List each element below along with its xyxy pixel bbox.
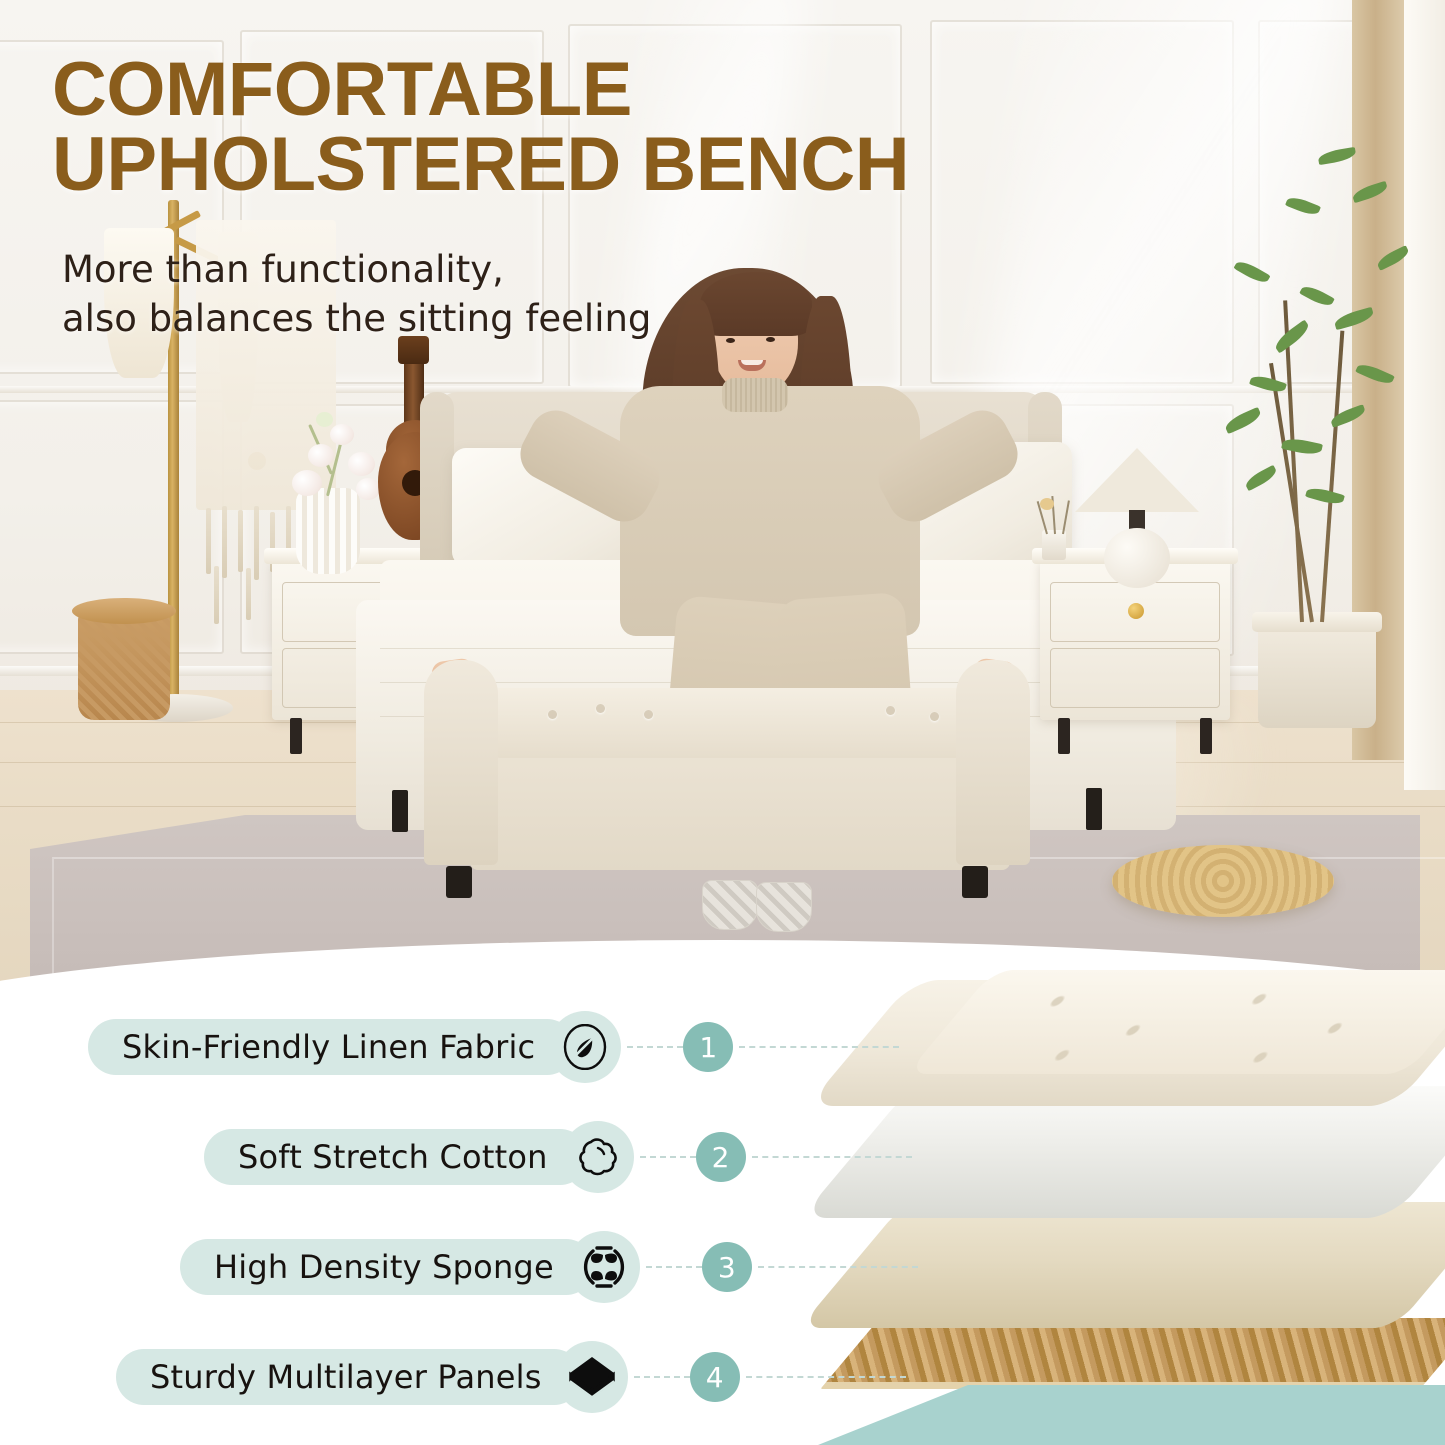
feature-row-4[interactable]: Sturdy Multilayer Panels 4: [116, 1342, 906, 1412]
eye: [766, 337, 775, 342]
orchid-bloom: [348, 452, 375, 476]
feature-pill-1: Skin-Friendly Linen Fabric: [88, 1019, 575, 1075]
cotton-boll-icon: [562, 1121, 634, 1193]
slipper: [702, 880, 758, 930]
table-lamp-base: [1104, 528, 1170, 588]
seat-tuft: [930, 712, 939, 721]
subheading: More than functionality, also balances t…: [62, 245, 762, 343]
bench-seat-cushion: [486, 688, 994, 758]
seat-tuft: [644, 710, 653, 719]
nightstand-leg: [1058, 718, 1070, 754]
drawer-knob[interactable]: [1128, 603, 1144, 619]
orchid-bloom: [308, 444, 334, 467]
tassel: [214, 566, 219, 624]
feature-pill-2: Soft Stretch Cotton: [204, 1129, 588, 1185]
feature-label-2: Soft Stretch Cotton: [238, 1138, 548, 1176]
sheer-curtain: [1404, 0, 1445, 790]
connector-line: [634, 1376, 690, 1378]
feature-label-4: Sturdy Multilayer Panels: [150, 1358, 542, 1396]
connector-line: [640, 1156, 696, 1158]
feature-badge-1: 1: [683, 1022, 733, 1072]
orchid-bloom: [356, 478, 380, 500]
connector-line: [627, 1046, 683, 1048]
feature-badge-4: 4: [690, 1352, 740, 1402]
headline-line-1: COMFORTABLE: [52, 52, 1062, 127]
connector-line: [746, 1376, 906, 1378]
planter-rim: [1252, 612, 1382, 632]
bench-arm: [956, 660, 1030, 865]
sweater-collar: [722, 378, 788, 412]
slipper: [756, 882, 812, 932]
panel-slab-icon: [556, 1341, 628, 1413]
diffuser-flower: [1040, 498, 1054, 510]
nightstand-leg: [1200, 718, 1212, 754]
reed-diffuser: [1042, 530, 1066, 560]
tassel: [222, 506, 227, 578]
connector-line: [752, 1156, 912, 1158]
page-title: COMFORTABLE UPHOLSTERED BENCH: [52, 52, 1062, 202]
woven-basket: [78, 610, 170, 720]
tassel: [238, 510, 243, 572]
feature-badge-3: 3: [702, 1242, 752, 1292]
feature-pill-4: Sturdy Multilayer Panels: [116, 1349, 582, 1405]
straw-pouf: [1112, 845, 1334, 917]
feature-badge-2: 2: [696, 1132, 746, 1182]
feature-row-1[interactable]: Skin-Friendly Linen Fabric 1: [88, 1012, 899, 1082]
seat-tuft: [548, 710, 557, 719]
orchid-bud: [316, 412, 333, 427]
feature-row-2[interactable]: Soft Stretch Cotton 2: [204, 1122, 912, 1192]
planter-pot: [1258, 620, 1376, 728]
layer-particleboard-panel: [820, 1318, 1445, 1389]
bed-leg: [392, 790, 408, 832]
teeth: [741, 360, 763, 365]
connector-line: [758, 1266, 918, 1268]
headboard-wing: [420, 392, 454, 582]
tassel: [246, 568, 251, 620]
tufted-fabric-surface: [906, 970, 1445, 1074]
nightstand-leg: [290, 718, 302, 754]
connector-line: [739, 1046, 899, 1048]
drawer[interactable]: [1050, 648, 1220, 708]
orchid-bloom: [292, 470, 322, 496]
product-infographic: COMFORTABLE UPHOLSTERED BENCH More than …: [0, 0, 1445, 1445]
tassel: [206, 508, 211, 574]
orchid-vase: [296, 488, 360, 574]
orchid-bloom: [330, 424, 354, 445]
tassel: [254, 506, 259, 580]
subheading-line-2: also balances the sitting feeling: [62, 294, 762, 343]
bench-foot: [446, 866, 472, 898]
headline-line-2: UPHOLSTERED BENCH: [52, 127, 1062, 202]
seat-tuft: [596, 704, 605, 713]
subheading-line-1: More than functionality,: [62, 245, 762, 294]
sponge-cells-icon: [568, 1231, 640, 1303]
table-lamp-shade: [1075, 448, 1199, 512]
bench-foot: [962, 866, 988, 898]
bench-arm: [424, 660, 498, 865]
leaf-icon: [549, 1011, 621, 1083]
bed-leg: [1086, 788, 1102, 830]
feature-label-1: Skin-Friendly Linen Fabric: [122, 1028, 535, 1066]
connector-line: [646, 1266, 702, 1268]
feature-label-3: High Density Sponge: [214, 1248, 554, 1286]
feature-pill-3: High Density Sponge: [180, 1239, 594, 1295]
woven-basket-rim: [72, 598, 176, 624]
feature-row-3[interactable]: High Density Sponge 3: [180, 1232, 918, 1302]
seat-tuft: [886, 706, 895, 715]
